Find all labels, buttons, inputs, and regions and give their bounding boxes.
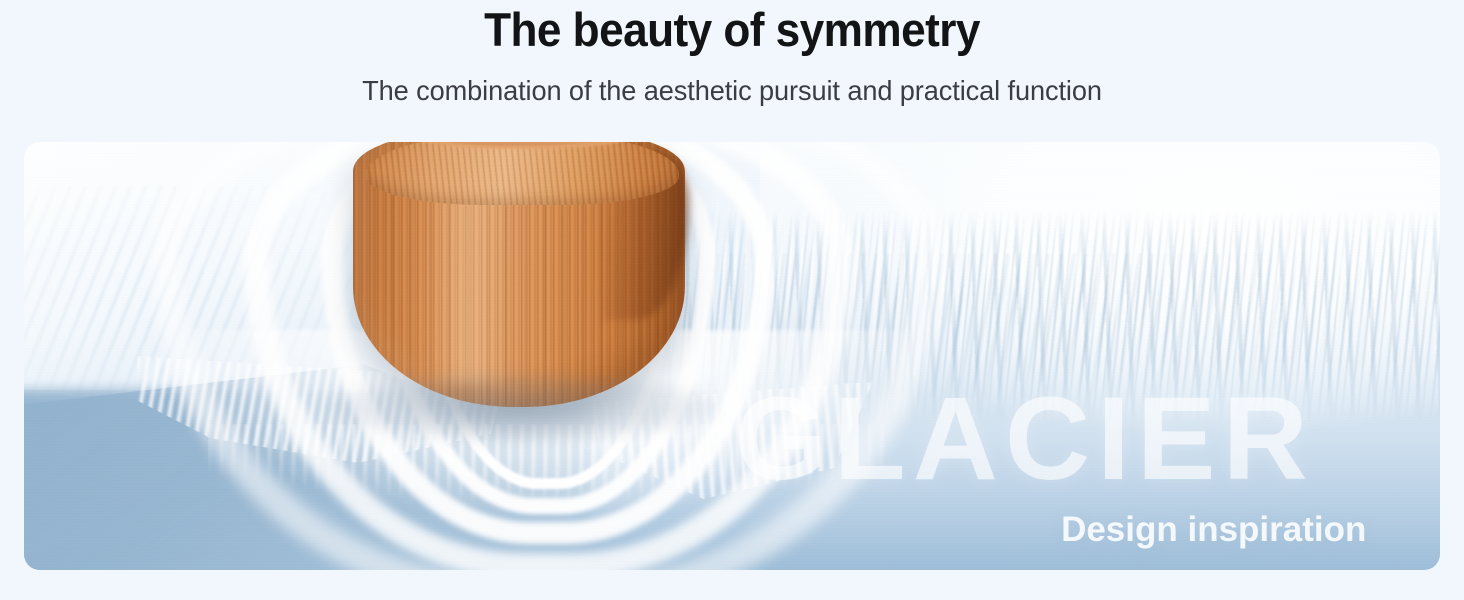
page-subtitle: The combination of the aesthetic pursuit… [22, 53, 1442, 105]
page-header: The beauty of symmetry The combination o… [0, 0, 1464, 142]
page-title: The beauty of symmetry [44, 0, 1420, 53]
hero-overlay-word: GLACIER [735, 380, 1315, 498]
promo-page: The beauty of symmetry The combination o… [0, 0, 1464, 600]
wooden-object [353, 142, 686, 407]
wood-cast-shadow [321, 373, 717, 441]
wood-highlight-band [426, 183, 513, 386]
hero-banner-image: GLACIER Design inspiration [24, 142, 1440, 570]
hero-overlay-tagline: Design inspiration [1061, 512, 1366, 547]
wood-aperture-ring [422, 142, 622, 149]
wood-top-face [366, 142, 679, 205]
